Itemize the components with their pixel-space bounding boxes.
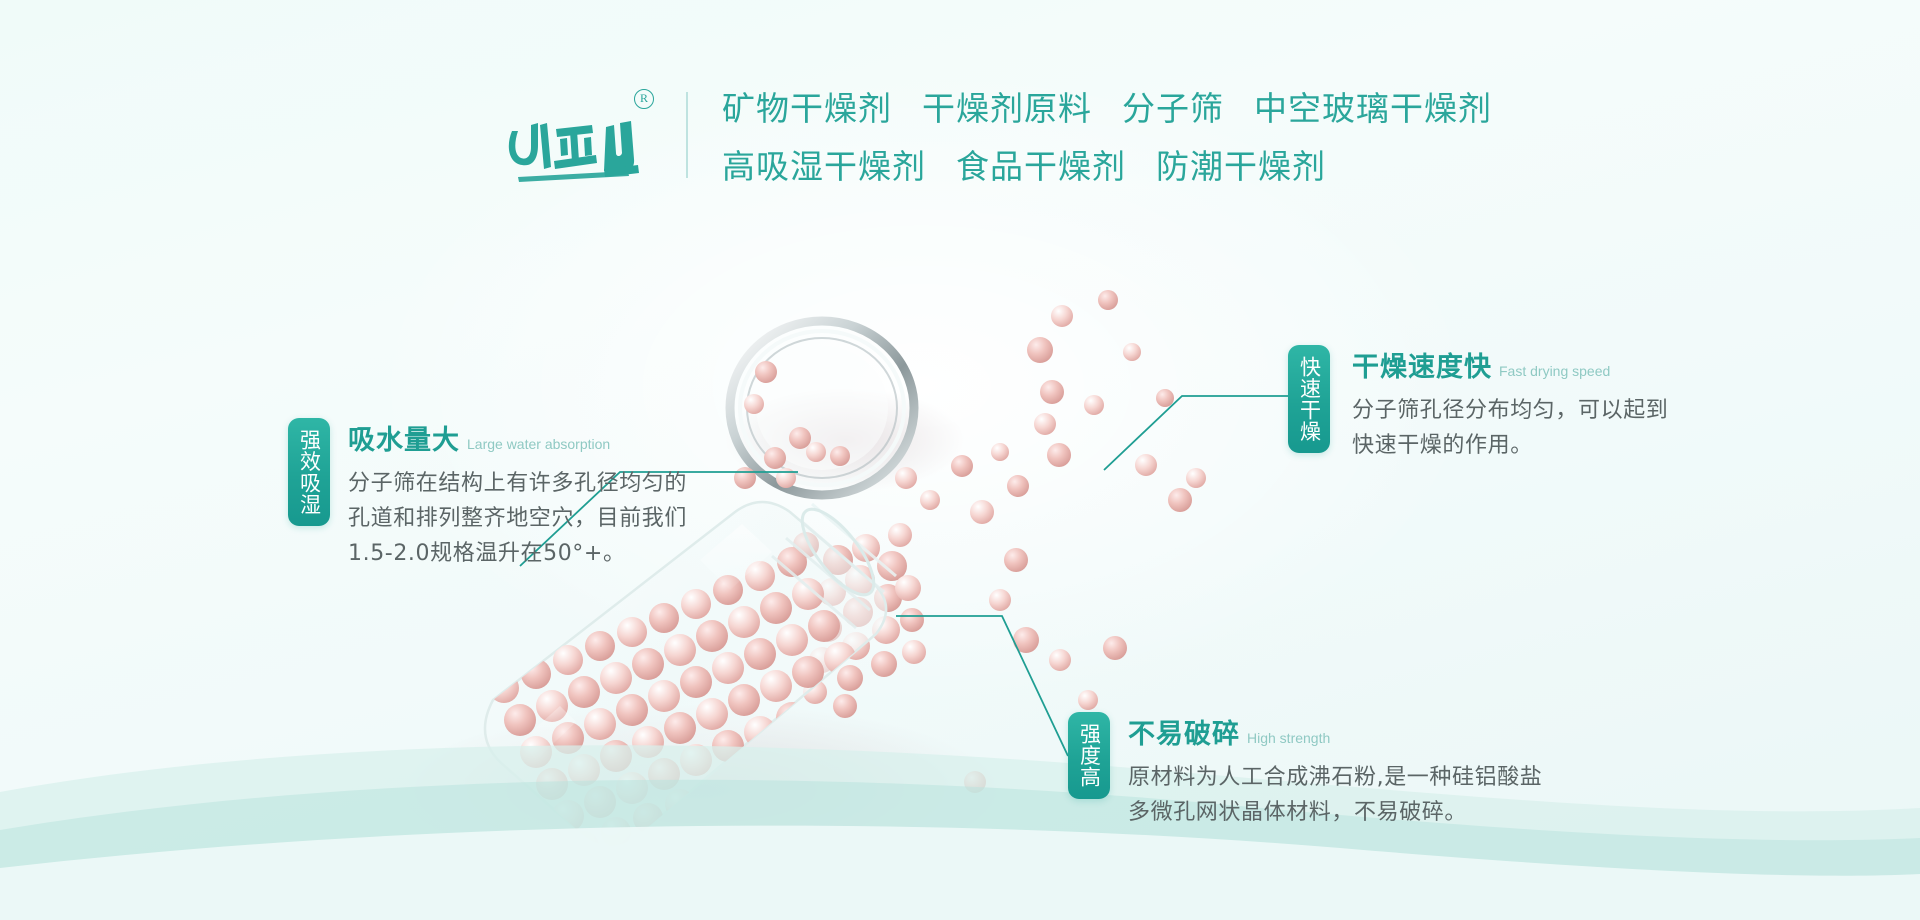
callout-large-water-absorption: 强效吸湿 吸水量大 Large water absorption 分子筛在结构上… [288,418,688,571]
badge-fast-drying: 快速干燥 [1288,345,1330,453]
callout-title-row: 吸水量大 Large water absorption [348,418,688,457]
nav-row-2: 高吸湿干燥剂 食品干燥剂 防潮干燥剂 [722,140,1492,188]
nav-item-molecular-sieve[interactable]: 分子筛 [1122,82,1224,130]
nav-item-moisture-proof-desiccant[interactable]: 防潮干燥剂 [1156,140,1326,188]
nav-item-food-desiccant[interactable]: 食品干燥剂 [956,140,1126,188]
callout-body: 干燥速度快 Fast drying speed 分子筛孔径分布均匀，可以起到快速… [1352,345,1672,463]
callout-title: 吸水量大 [348,418,460,457]
callout-title: 不易破碎 [1128,712,1240,751]
connector-speed [1104,396,1308,470]
nav-item-insulating-glass-desiccant[interactable]: 中空玻璃干燥剂 [1254,82,1492,130]
callout-description: 分子筛孔径分布均匀，可以起到快速干燥的作用。 [1352,393,1672,463]
callout-fast-drying-speed: 快速干燥 干燥速度快 Fast drying speed 分子筛孔径分布均匀，可… [1288,345,1672,463]
registered-trademark-icon: R [634,89,654,109]
header-divider [686,92,688,178]
logo-wordmark-icon [500,115,650,187]
callout-description: 原材料为人工合成沸石粉,是一种硅铝酸盐多微孔网状晶体材料，不易破碎。 [1128,760,1558,830]
nav-item-desiccant-raw-material[interactable]: 干燥剂原料 [922,82,1092,130]
decorative-waves [0,700,1920,920]
callout-high-strength: 强度高 不易破碎 High strength 原材料为人工合成沸石粉,是一种硅铝… [1068,712,1558,830]
callout-body: 吸水量大 Large water absorption 分子筛在结构上有许多孔径… [348,418,688,571]
nav-item-mineral-desiccant[interactable]: 矿物干燥剂 [722,82,892,130]
badge-high-strength: 强度高 [1068,712,1110,799]
callout-title-row: 干燥速度快 Fast drying speed [1352,345,1672,384]
header-nav: 矿物干燥剂 干燥剂原料 分子筛 中空玻璃干燥剂 高吸湿干燥剂 食品干燥剂 防潮干… [722,82,1492,188]
nav-row-1: 矿物干燥剂 干燥剂原料 分子筛 中空玻璃干燥剂 [722,82,1492,130]
product-banner: R 矿物干燥剂 干燥剂原料 分子筛 中空玻璃干燥剂 高吸湿干燥剂 食品干燥剂 防… [0,0,1920,920]
nav-item-high-moisture-absorption-desiccant[interactable]: 高吸湿干燥剂 [722,140,926,188]
callout-subtitle: Large water absorption [467,436,610,452]
brand-logo[interactable]: R [490,83,660,187]
site-header: R 矿物干燥剂 干燥剂原料 分子筛 中空玻璃干燥剂 高吸湿干燥剂 食品干燥剂 防… [0,0,1920,270]
callout-title: 干燥速度快 [1352,345,1492,384]
callout-title-row: 不易破碎 High strength [1128,712,1558,751]
callout-subtitle: High strength [1247,730,1330,746]
callout-body: 不易破碎 High strength 原材料为人工合成沸石粉,是一种硅铝酸盐多微… [1128,712,1558,830]
callout-subtitle: Fast drying speed [1499,363,1610,379]
callout-description: 分子筛在结构上有许多孔径均匀的孔道和排列整齐地空穴，目前我们1.5-2.0规格温… [348,466,688,571]
badge-strong-moisture-absorption: 强效吸湿 [288,418,330,526]
